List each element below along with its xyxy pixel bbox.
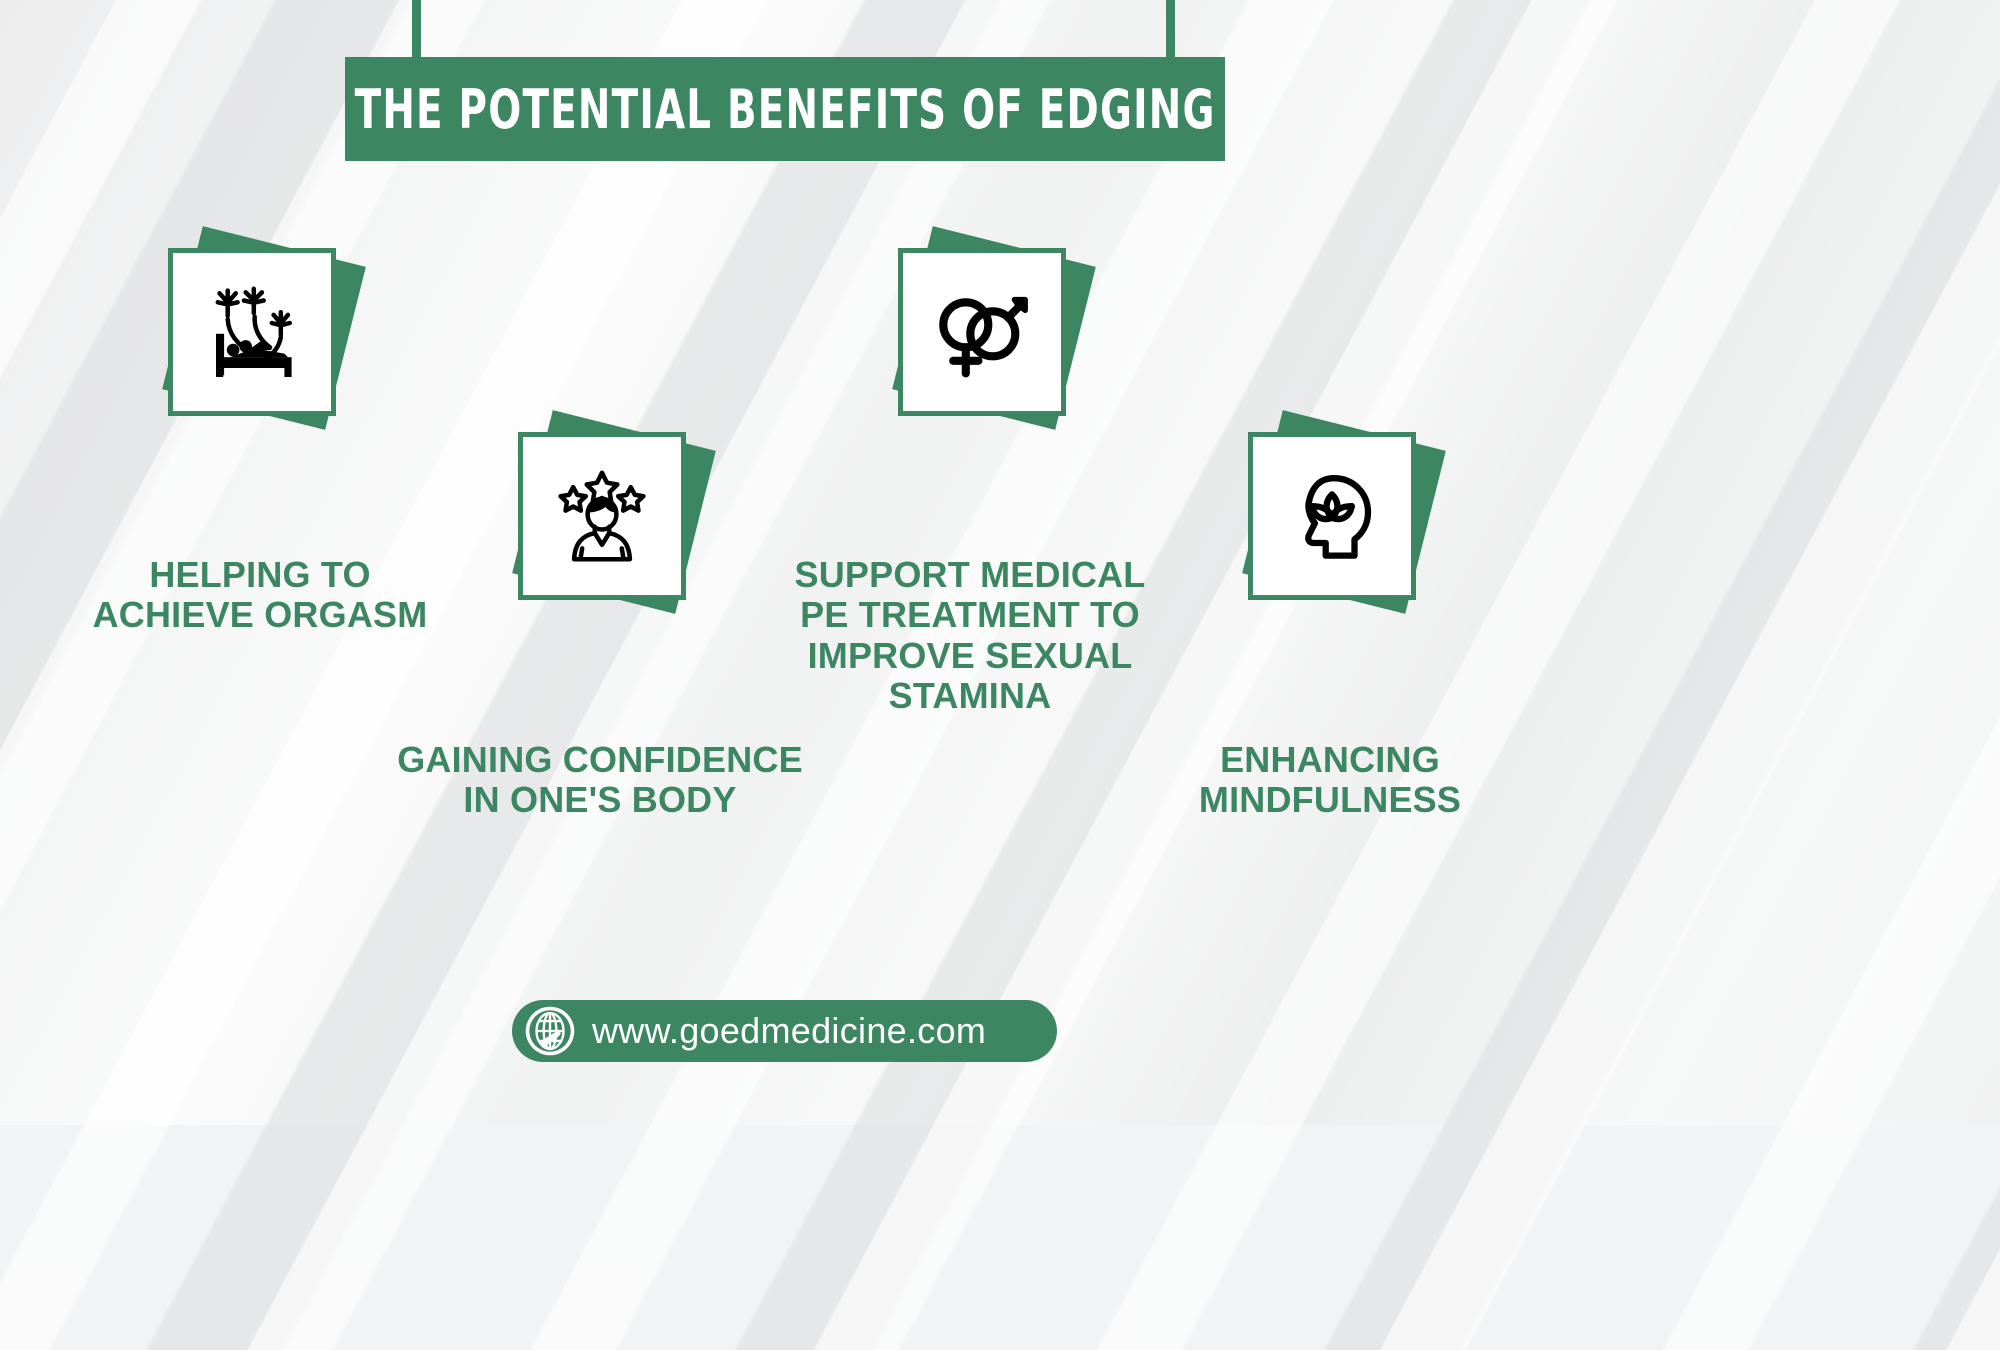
benefit-1-label: HELPING TO ACHIEVE ORGASM — [60, 555, 460, 636]
website-url-pill[interactable]: www.goedmedicine.com — [512, 1000, 1057, 1062]
benefit-4-label: ENHANCING MINDFULNESS — [1140, 740, 1520, 821]
benefit-3-icon-card — [898, 248, 1066, 416]
benefit-4-icon-wrap — [1248, 422, 1434, 608]
head-lotus-icon — [1278, 462, 1386, 570]
benefit-2-label: GAINING CONFIDENCE IN ONE'S BODY — [370, 740, 830, 821]
male-female-symbols-icon — [928, 278, 1036, 386]
website-url-text: www.goedmedicine.com — [592, 1010, 986, 1052]
benefit-2-icon-wrap — [518, 422, 704, 608]
person-stars-icon — [548, 462, 656, 570]
page-title: THE POTENTIAL BENEFITS OF EDGING — [355, 78, 1216, 141]
benefit-1-icon-wrap — [168, 238, 354, 424]
globe-icon — [522, 1003, 578, 1059]
benefit-2-icon-card — [518, 432, 686, 600]
bed-fireworks-icon — [198, 278, 306, 386]
benefit-1-icon-card — [168, 248, 336, 416]
benefit-3-label: SUPPORT MEDICAL PE TREATMENT TO IMPROVE … — [780, 555, 1160, 716]
benefit-4-icon-card — [1248, 432, 1416, 600]
benefit-3-icon-wrap — [898, 238, 1084, 424]
title-banner: THE POTENTIAL BENEFITS OF EDGING — [345, 57, 1225, 161]
